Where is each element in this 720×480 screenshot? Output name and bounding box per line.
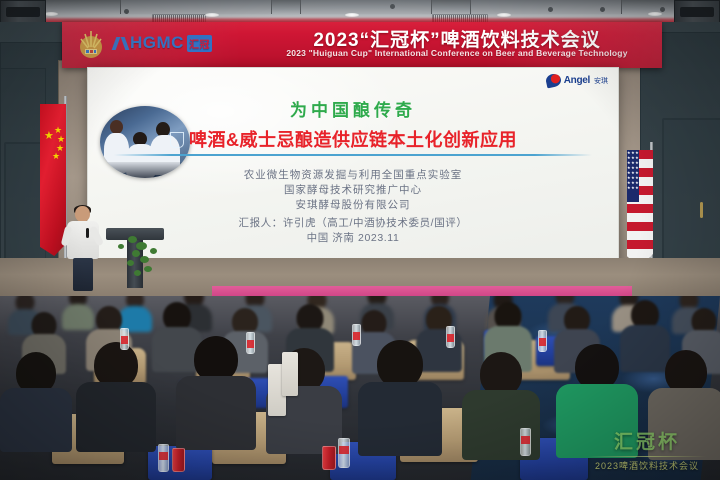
hgmc-logo: HGMC 汇冠: [114, 33, 212, 53]
slide-org-line: 国家酵母技术研究推广中心: [88, 183, 618, 198]
hgmc-logo-cn: 汇冠: [187, 35, 212, 52]
united-states-flag: ★★★★★★★★★★★★★★★★★★★★★★★★: [627, 150, 653, 268]
lectern: [106, 228, 164, 288]
water-bottle: [520, 428, 531, 456]
audience-area: [0, 296, 720, 480]
ceiling-light: [648, 12, 662, 16]
slide-reporter-block: 汇报人：许引虎（高工/中酒协技术委员/国评） 中国 济南 2023.11: [88, 216, 618, 246]
beverage-can: [172, 448, 185, 472]
conference-tote-bag: [282, 352, 298, 396]
projection-screen: Angel 安琪 为中国酿传奇 啤酒&威士忌酿造供应链本土化创新应用 农业微生物…: [88, 68, 618, 286]
slide-org-line: 农业微生物资源发掘与利用全国重点实验室: [88, 168, 618, 183]
water-bottle: [158, 444, 169, 472]
slide-organizations: 农业微生物资源发掘与利用全国重点实验室 国家酵母技术研究推广中心 安琪酵母股份有…: [88, 168, 618, 213]
slide-divider: [114, 154, 592, 156]
ceiling-light: [345, 13, 359, 17]
ceiling-light: [205, 13, 219, 17]
angel-yeast-logo: Angel 安琪: [546, 74, 608, 87]
angel-logo-cn: 安琪: [594, 76, 608, 86]
water-bottle: [338, 438, 350, 468]
slide-location-date: 中国 济南 2023.11: [88, 231, 618, 246]
chinese-flag: ★ ★ ★ ★ ★: [40, 104, 66, 256]
presenter-head: [75, 206, 90, 222]
hgmc-logo-text: HGMC: [130, 33, 184, 53]
microphone-icon: [86, 228, 89, 238]
beverage-can: [322, 446, 336, 470]
slide-reporter-line: 汇报人：许引虎（高工/中酒协技术委员/国评）: [88, 216, 618, 231]
water-bottle: [446, 326, 455, 348]
conference-banner: HGMC 汇冠 2023“汇冠杯”啤酒饮料技术会议 2023 "Huiguan …: [62, 22, 662, 68]
slide-title-red: 啤酒&威士忌酿造供应链本土化创新应用: [88, 126, 618, 152]
water-bottle: [352, 324, 361, 346]
angel-swirl-icon: [545, 73, 562, 89]
water-bottle: [538, 330, 547, 352]
water-bottle: [246, 332, 255, 354]
slide-headline-green: 为中国酿传奇: [88, 96, 618, 121]
presenter: [66, 206, 100, 290]
banner-subtitle-en: 2023 "Huiguan Cup" International Confere…: [237, 48, 662, 58]
hgmc-mark-icon: [114, 37, 127, 50]
presenter-trousers: [73, 258, 93, 291]
ceiling-light: [497, 13, 511, 17]
angel-logo-text: Angel: [564, 75, 590, 86]
slide-org-line: 安琪酵母股份有限公司: [88, 198, 618, 213]
screenshot-root: HGMC 汇冠 2023“汇冠杯”啤酒饮料技术会议 2023 "Huiguan …: [0, 0, 720, 480]
slide-content: Angel 安琪 为中国酿传奇 啤酒&威士忌酿造供应链本土化创新应用 农业微生物…: [88, 68, 618, 286]
golden-wheat-emblem-icon: [76, 27, 106, 61]
banner-title-cn: 2023“汇冠杯”啤酒饮料技术会议: [257, 25, 657, 52]
flag-canton: ★★★★★★★★★★★★★★★★★★★★★★★★: [627, 150, 639, 202]
ceiling-light: [44, 12, 58, 16]
water-bottle: [120, 328, 129, 350]
